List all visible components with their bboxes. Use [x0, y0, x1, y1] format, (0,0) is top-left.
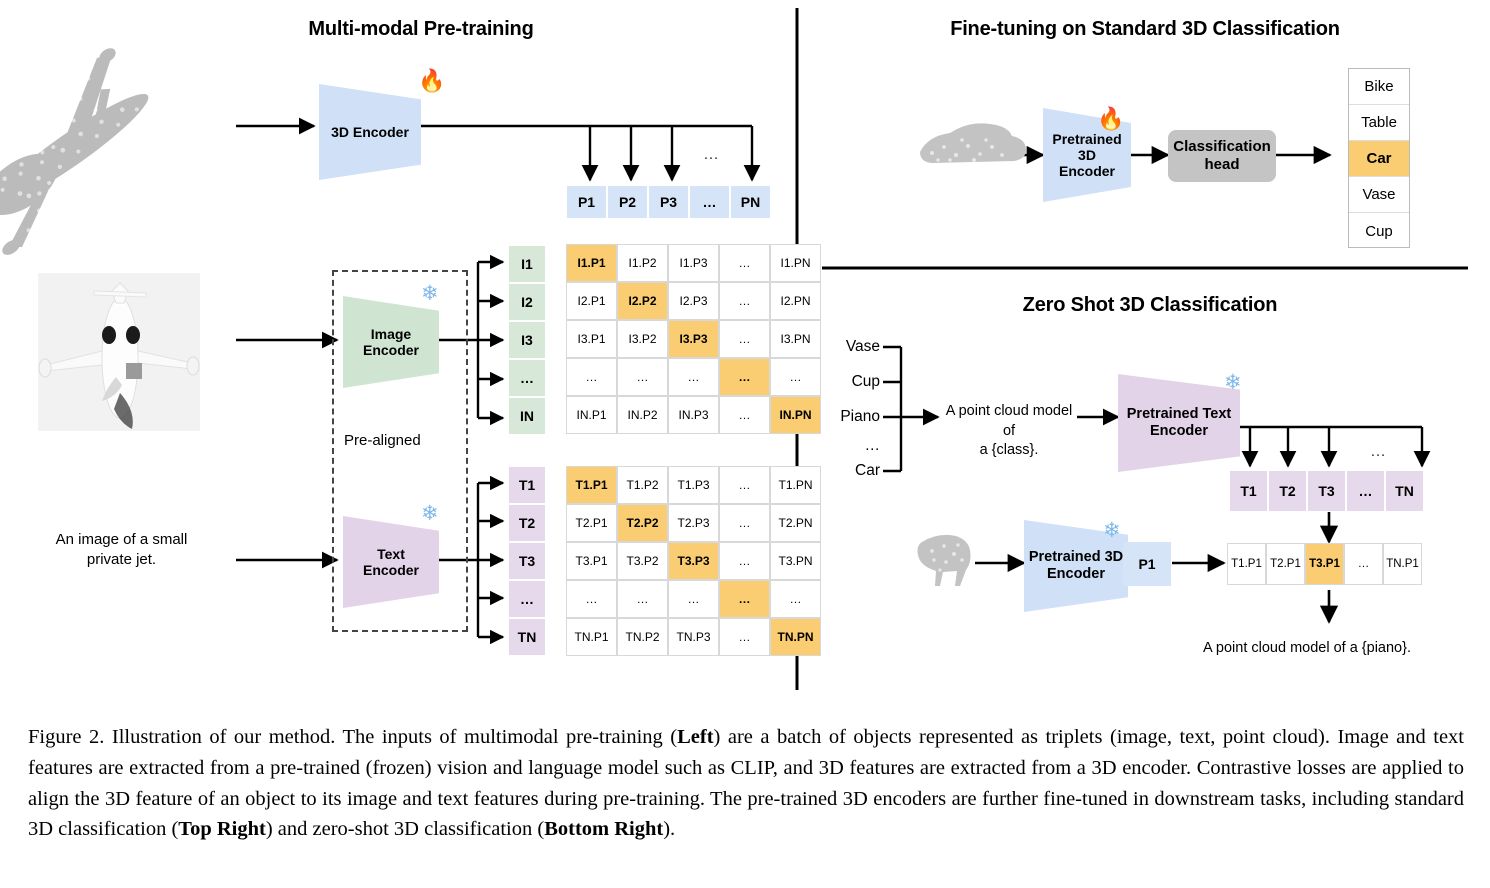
text-matrix-cell: T1.P3 — [668, 466, 719, 504]
zeroshot-class-item: Car — [828, 462, 880, 480]
piano-stipple — [930, 543, 964, 571]
image-matrix-cell: I3.P2 — [617, 320, 668, 358]
p-token: P2 — [607, 185, 648, 219]
p-token: P1 — [566, 185, 607, 219]
airplane-point-cloud — [0, 40, 250, 263]
text-matrix-cell: T3.P1 — [566, 542, 617, 580]
caption-prefix: Figure 2. Illustration of our method. Th… — [28, 726, 677, 748]
snowflake-icon-text: ❄ — [421, 503, 439, 524]
pretrained-text-encoder-label: Pretrained TextEncoder — [1127, 406, 1232, 439]
image-matrix-cell: … — [566, 358, 617, 396]
text-matrix-cell: TN.P2 — [617, 618, 668, 656]
dots-above-t-arrows-zs: … — [1370, 443, 1386, 461]
image-matrix-cell: I2.P1 — [566, 282, 617, 320]
text-matrix-cell: T3.P3 — [668, 542, 719, 580]
text-matrix-cell: … — [668, 580, 719, 618]
image-encoder-box[interactable]: ImageEncoder — [343, 296, 439, 388]
text-matrix-cell: T1.PN — [770, 466, 821, 504]
image-matrix-cell: I1.PN — [770, 244, 821, 282]
p1-token-zs: P1 — [1123, 542, 1171, 586]
image-encoder-label: ImageEncoder — [363, 326, 419, 358]
t-token: TN — [508, 618, 546, 656]
i-token: I3 — [508, 321, 546, 359]
text-matrix-cell: … — [719, 580, 770, 618]
figure-caption: Figure 2. Illustration of our method. Th… — [28, 722, 1464, 845]
image-matrix-cell: I2.P2 — [617, 282, 668, 320]
snowflake-icon-3denc-zs: ❄ — [1103, 520, 1121, 541]
pretrained-3d-encoder-zs-label: Pretrained 3DEncoder — [1029, 549, 1123, 582]
sim-cell-zs: TN.P1 — [1383, 543, 1422, 585]
image-matrix-cell: I3.P1 — [566, 320, 617, 358]
t-token-zs: TN — [1385, 470, 1424, 512]
caption-suffix: ). — [663, 818, 675, 840]
caption-mid2: ) and zero-shot 3D classification ( — [266, 818, 544, 840]
text-matrix-cell: T2.P2 — [617, 504, 668, 542]
text-matrix-cell: T1.P2 — [617, 466, 668, 504]
caption-bold-topright: Top Right — [178, 818, 266, 840]
classification-head-label: Classificationhead — [1173, 138, 1271, 174]
caption-bold-left: Left — [677, 726, 713, 748]
image-matrix-cell: IN.PN — [770, 396, 821, 434]
image-matrix-cell: … — [719, 282, 770, 320]
zeroshot-class-item: Piano — [828, 408, 880, 426]
text-matrix-cell: T3.PN — [770, 542, 821, 580]
text-matrix-cell: … — [719, 466, 770, 504]
image-matrix-cell: IN.P2 — [617, 396, 668, 434]
car-stipple — [930, 138, 1004, 162]
sim-cell-zs: … — [1344, 543, 1383, 585]
snowflake-icon-image: ❄ — [421, 283, 439, 304]
zeroshot-result-text: A point cloud model of a {piano}. — [1203, 640, 1411, 656]
text-matrix-cell: … — [719, 542, 770, 580]
pretrained-3d-encoder-ft-label: Pretrained 3DEncoder — [1043, 131, 1131, 179]
3d-encoder-label: 3D Encoder — [331, 124, 409, 140]
text-matrix-cell: T2.P3 — [668, 504, 719, 542]
t-token-zs: T3 — [1307, 470, 1346, 512]
panel-title-left: Multi-modal Pre-training — [256, 18, 586, 41]
image-matrix-cell: I2.P3 — [668, 282, 719, 320]
text-matrix-cell: TN.P1 — [566, 618, 617, 656]
caption-bold-bottomright: Bottom Right — [544, 818, 663, 840]
text-matrix-cell: … — [566, 580, 617, 618]
text-encoder-label: TextEncoder — [363, 546, 419, 578]
zeroshot-class-item: Vase — [828, 338, 880, 356]
sim-cell-zs: T3.P1 — [1305, 543, 1344, 585]
image-matrix-cell: I1.P2 — [617, 244, 668, 282]
image-matrix-cell: … — [617, 358, 668, 396]
t-token-zs: T2 — [1268, 470, 1307, 512]
i-token: I1 — [508, 245, 546, 283]
classification-head-box[interactable]: Classificationhead — [1168, 130, 1276, 182]
text-matrix-cell: … — [719, 504, 770, 542]
text-encoder-box[interactable]: TextEncoder — [343, 516, 439, 608]
image-matrix-cell: … — [719, 358, 770, 396]
i-token: I2 — [508, 283, 546, 321]
sim-cell-zs: T1.P1 — [1227, 543, 1266, 585]
p-token: PN — [730, 185, 771, 219]
image-matrix-cell: IN.P3 — [668, 396, 719, 434]
text-matrix-cell: TN.P3 — [668, 618, 719, 656]
dots-above-p-arrows: … — [703, 146, 719, 164]
piano-point-cloud — [918, 535, 971, 586]
input-text-line1: An image of a small — [56, 531, 188, 548]
snowflake-icon-textenc-zs: ❄ — [1224, 372, 1242, 393]
t-token: T3 — [508, 542, 546, 580]
class-list-finetune: BikeTableCarVaseCup — [1348, 68, 1410, 248]
image-matrix-cell: … — [668, 358, 719, 396]
i-token: IN — [508, 397, 546, 435]
image-matrix-cell: … — [770, 358, 821, 396]
panel-title-topright: Fine-tuning on Standard 3D Classificatio… — [895, 18, 1395, 41]
zeroshot-class-item: … — [828, 437, 880, 455]
3d-encoder-box[interactable]: 3D Encoder — [319, 84, 421, 180]
car-point-cloud — [920, 123, 1026, 163]
image-matrix-cell: I3.P3 — [668, 320, 719, 358]
i-token: … — [508, 359, 546, 397]
p-token: … — [689, 185, 730, 219]
class-list-item[interactable]: Bike — [1349, 69, 1409, 105]
t-token-zs: … — [1346, 470, 1385, 512]
image-matrix-cell: I3.PN — [770, 320, 821, 358]
image-matrix-cell: IN.P1 — [566, 396, 617, 434]
t-token: … — [508, 580, 546, 618]
p-token: P3 — [648, 185, 689, 219]
airplane-stipple — [0, 63, 161, 243]
class-list-item[interactable]: Table — [1349, 105, 1409, 141]
text-matrix-cell: T1.P1 — [566, 466, 617, 504]
input-text-line2: private jet. — [87, 551, 156, 568]
image-matrix-cell: I2.PN — [770, 282, 821, 320]
text-matrix-cell: … — [719, 618, 770, 656]
figure-root: Multi-modal Pre-training An image of a s… — [0, 0, 1490, 888]
image-matrix-cell: I1.P3 — [668, 244, 719, 282]
fire-icon-finetune: 🔥 — [1097, 108, 1124, 130]
text-matrix-cell: … — [617, 580, 668, 618]
class-list-item[interactable]: Cup — [1349, 213, 1409, 249]
class-list-item[interactable]: Car — [1349, 141, 1409, 177]
pretrained-text-encoder-box[interactable]: Pretrained TextEncoder — [1118, 374, 1240, 472]
input-text-caption: An image of a smallprivate jet. — [24, 530, 219, 571]
text-matrix-cell: T2.P1 — [566, 504, 617, 542]
fire-icon-pretrain: 🔥 — [418, 70, 445, 92]
image-matrix-cell: I1.P1 — [566, 244, 617, 282]
text-matrix-cell: T2.PN — [770, 504, 821, 542]
sim-cell-zs: T2.P1 — [1266, 543, 1305, 585]
image-matrix-cell: … — [719, 244, 770, 282]
prompt-template: A point cloud model ofa {class}. — [938, 402, 1080, 461]
image-matrix-cell: … — [719, 320, 770, 358]
pre-aligned-label: Pre-aligned — [344, 432, 421, 449]
text-matrix-cell: T3.P2 — [617, 542, 668, 580]
jet-image — [38, 273, 200, 431]
panel-title-bottomright: Zero Shot 3D Classification — [940, 294, 1360, 317]
zeroshot-class-item: Cup — [828, 373, 880, 391]
image-matrix-cell: … — [719, 396, 770, 434]
t-token: T1 — [508, 466, 546, 504]
t-token: T2 — [508, 504, 546, 542]
t-token-zs: T1 — [1229, 470, 1268, 512]
class-list-item[interactable]: Vase — [1349, 177, 1409, 213]
text-matrix-cell: TN.PN — [770, 618, 821, 656]
text-matrix-cell: … — [770, 580, 821, 618]
